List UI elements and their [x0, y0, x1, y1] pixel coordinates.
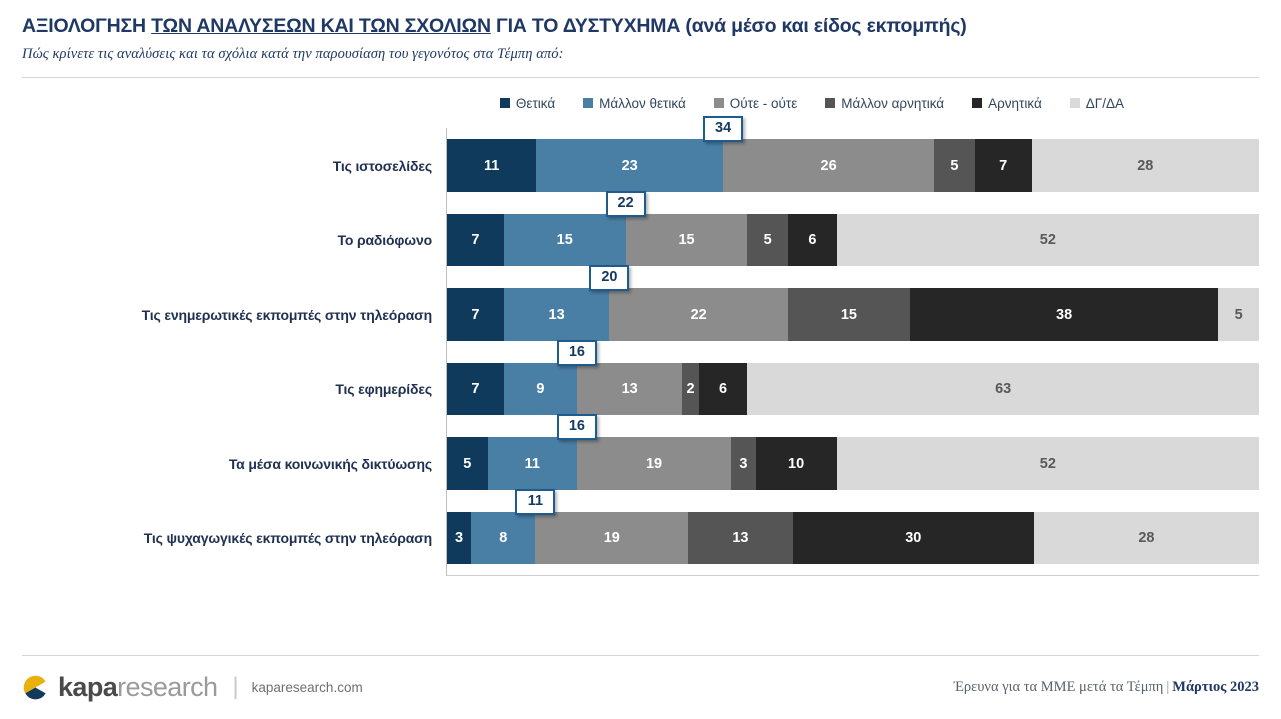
category-label: Τις ψυχαγωγικές εκπομπές στην τηλεόραση — [22, 530, 446, 546]
bar-segment: 10 — [756, 437, 837, 490]
callout-badge: 16 — [557, 340, 597, 366]
legend-swatch-icon — [825, 98, 835, 108]
category-axis: Τις ιστοσελίδεςΤο ραδιόφωνοΤις ενημερωτι… — [22, 128, 446, 576]
page-title-underlined: ΤΩΝ ΑΝΑΛΥΣΕΩΝ ΚΑΙ ΤΩΝ ΣΧΟΛΙΩΝ — [151, 15, 491, 37]
callout-badge: 34 — [703, 116, 743, 142]
bar-segment: 63 — [747, 363, 1259, 416]
bar-segment: 15 — [626, 214, 748, 267]
bar-segment: 2 — [682, 363, 698, 416]
brand-word-bold: kapa — [58, 672, 117, 702]
page-title: ΑΞΙΟΛΟΓΗΣΗ ΤΩΝ ΑΝΑΛΥΣΕΩΝ ΚΑΙ ΤΩΝ ΣΧΟΛΙΩΝ… — [22, 14, 1259, 38]
legend-swatch-icon — [1070, 98, 1080, 108]
category-row: Τις ψυχαγωγικές εκπομπές στην τηλεόραση — [22, 501, 446, 576]
legend-label: ΔΓ/ΔΑ — [1086, 96, 1124, 111]
brand-website[interactable]: kaparesearch.com — [252, 680, 363, 695]
header-divider — [22, 77, 1259, 78]
legend-item[interactable]: ΔΓ/ΔΑ — [1070, 96, 1124, 111]
legend-swatch-icon — [972, 98, 982, 108]
chart-legend: ΘετικάΜάλλον θετικάΟύτε - ούτεΜάλλον αρν… — [22, 92, 1259, 114]
bar-segment: 13 — [577, 363, 683, 416]
legend-swatch-icon — [583, 98, 593, 108]
chart-plot: Τις ιστοσελίδεςΤο ραδιόφωνοΤις ενημερωτι… — [22, 128, 1259, 576]
legend-label: Ούτε - ούτε — [730, 96, 797, 111]
page-title-pre: ΑΞΙΟΛΟΓΗΣΗ — [22, 15, 151, 37]
bar-row: 71515565222 — [447, 203, 1259, 278]
legend-label: Μάλλον αρνητικά — [841, 96, 944, 111]
legend-item[interactable]: Μάλλον αρνητικά — [825, 96, 944, 111]
category-row: Τα μέσα κοινωνικής δικτύωσης — [22, 426, 446, 501]
category-row: Τις ενημερωτικές εκπομπές στην τηλεόραση — [22, 277, 446, 352]
legend-item[interactable]: Μάλλον θετικά — [583, 96, 686, 111]
footer-note-separator: | — [1166, 679, 1169, 695]
bar-segment: 3 — [447, 512, 471, 565]
bar-segment: 52 — [837, 437, 1259, 490]
bar-segment: 19 — [535, 512, 688, 565]
brand-word-light: research — [117, 672, 217, 702]
stacked-bar: 1123265728 — [447, 139, 1259, 192]
bar-segment: 7 — [975, 139, 1032, 192]
bar-segment: 15 — [504, 214, 626, 267]
category-label: Τις ενημερωτικές εκπομπές στην τηλεόραση — [22, 307, 446, 323]
bar-segment: 15 — [788, 288, 910, 341]
brand-separator: | — [232, 673, 238, 701]
bar-segment: 28 — [1034, 512, 1259, 565]
bar-segment: 5 — [1218, 288, 1259, 341]
bar-row: 112326572834 — [447, 128, 1259, 203]
bar-segment: 52 — [837, 214, 1259, 267]
callout-badge: 20 — [589, 265, 629, 291]
brand-lockup: kaparesearch | kaparesearch.com — [22, 673, 363, 701]
bars-container: 1123265728347151556522271322153852079132… — [446, 128, 1259, 576]
bar-segment: 38 — [910, 288, 1219, 341]
bar-segment: 26 — [723, 139, 934, 192]
bar-segment: 9 — [504, 363, 577, 416]
bar-segment: 6 — [699, 363, 748, 416]
kapa-logo-icon — [22, 674, 49, 701]
legend-label: Αρνητικά — [988, 96, 1042, 111]
bar-row: 511193105216 — [447, 426, 1259, 501]
category-row: Το ραδιόφωνο — [22, 203, 446, 278]
brand-wordmark: kaparesearch — [58, 674, 217, 701]
category-label: Το ραδιόφωνο — [22, 232, 446, 248]
stacked-bar: 7132215385 — [447, 288, 1259, 341]
category-label: Τα μέσα κοινωνικής δικτύωσης — [22, 456, 446, 472]
bar-segment: 23 — [536, 139, 723, 192]
stacked-bar: 3819133028 — [447, 512, 1259, 565]
legend-label: Θετικά — [516, 96, 555, 111]
legend-swatch-icon — [500, 98, 510, 108]
bar-segment: 7 — [447, 288, 504, 341]
bar-segment: 5 — [934, 139, 975, 192]
legend-label: Μάλλον θετικά — [599, 96, 686, 111]
bar-segment: 6 — [788, 214, 837, 267]
page-footer: kaparesearch | kaparesearch.com Έρευνα γ… — [0, 655, 1281, 719]
stacked-bar: 79132663 — [447, 363, 1259, 416]
callout-badge: 11 — [515, 489, 555, 515]
legend-swatch-icon — [714, 98, 724, 108]
bar-segment: 28 — [1032, 139, 1259, 192]
bar-segment: 30 — [793, 512, 1034, 565]
bar-segment: 5 — [747, 214, 788, 267]
bar-segment: 7 — [447, 363, 504, 416]
callout-badge: 16 — [557, 414, 597, 440]
bar-segment: 11 — [488, 437, 577, 490]
bar-segment: 13 — [504, 288, 610, 341]
legend-item[interactable]: Αρνητικά — [972, 96, 1042, 111]
category-label: Τις ιστοσελίδες — [22, 158, 446, 174]
bar-segment: 13 — [688, 512, 793, 565]
bar-segment: 5 — [447, 437, 488, 490]
footer-note: Έρευνα για τα ΜΜΕ μετά τα Τέμπη|Μάρτιος … — [954, 679, 1259, 696]
footer-survey-text: Έρευνα για τα ΜΜΕ μετά τα Τέμπη — [954, 679, 1164, 695]
bar-segment: 7 — [447, 214, 504, 267]
page-subtitle: Πώς κρίνετε τις αναλύσεις και τα σχόλια … — [22, 46, 1259, 63]
page-title-post: ΓΙΑ ΤΟ ΔΥΣΤΥΧΗΜΑ (ανά μέσο και είδος εκπ… — [491, 15, 967, 37]
bar-row: 381913302811 — [447, 501, 1259, 576]
bar-segment: 19 — [577, 437, 731, 490]
stacked-bar: 5111931052 — [447, 437, 1259, 490]
page-header: ΑΞΙΟΛΟΓΗΣΗ ΤΩΝ ΑΝΑΛΥΣΕΩΝ ΚΑΙ ΤΩΝ ΣΧΟΛΙΩΝ… — [0, 0, 1281, 63]
bar-segment: 22 — [609, 288, 788, 341]
bar-segment: 11 — [447, 139, 536, 192]
legend-item[interactable]: Θετικά — [500, 96, 555, 111]
category-label: Τις εφημερίδες — [22, 381, 446, 397]
bar-segment: 8 — [471, 512, 535, 565]
chart-area: ΘετικάΜάλλον θετικάΟύτε - ούτεΜάλλον αρν… — [0, 92, 1281, 592]
footer-date: Μάρτιος 2023 — [1172, 679, 1259, 695]
callout-badge: 22 — [606, 191, 646, 217]
legend-item[interactable]: Ούτε - ούτε — [714, 96, 797, 111]
category-row: Τις εφημερίδες — [22, 352, 446, 427]
category-row: Τις ιστοσελίδες — [22, 128, 446, 203]
stacked-bar: 715155652 — [447, 214, 1259, 267]
bar-segment: 3 — [731, 437, 755, 490]
